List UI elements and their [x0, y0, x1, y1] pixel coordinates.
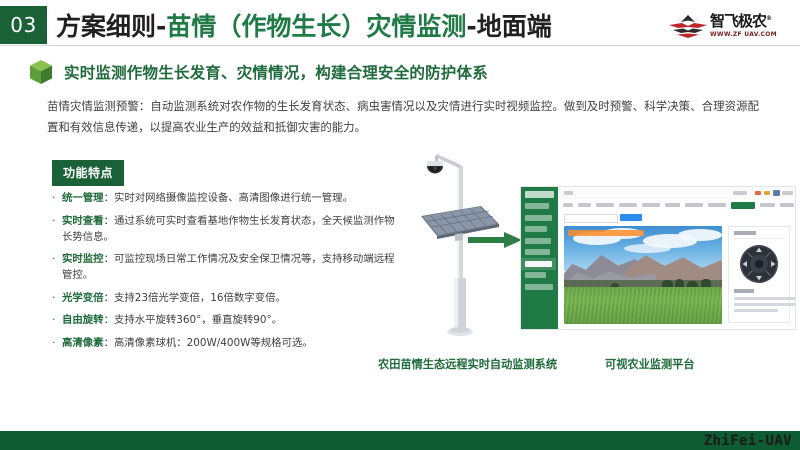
flow-arrow-icon [468, 232, 522, 248]
platform-sidebar-item[interactable] [525, 226, 547, 232]
platform-tab[interactable] [665, 203, 680, 207]
platform-breadcrumb [564, 191, 573, 195]
list-item: · 高清像素：高清像素球机：200W/400W等规格可选。 [52, 335, 402, 351]
video-timestamp-overlay [568, 230, 644, 236]
platform-sidebar-title [525, 191, 554, 198]
intro-paragraph: 苗情灾情监测预警：自动监测系统对农作物的生长发育状态、病虫害情况以及灾情进行实时… [47, 96, 759, 138]
page-title: 方案细则-苗情（作物生长）灾情监测-地面端 [56, 5, 552, 45]
list-item-body: 高清像素：高清像素球机：200W/400W等规格可选。 [62, 335, 402, 351]
list-item-sep: ： [104, 314, 114, 326]
platform-sidebar-item[interactable] [525, 272, 546, 278]
list-item-sep: ： [104, 192, 114, 204]
platform-tab[interactable] [685, 203, 703, 207]
platform-sidebar-item[interactable] [525, 203, 549, 209]
platform-sidebar[interactable] [521, 187, 558, 329]
platform-tab[interactable] [708, 203, 726, 207]
list-item: · 自由旋转：支持水平旋转360°，垂直旋转90°。 [52, 312, 402, 328]
list-item-label: 光学变倍 [62, 292, 104, 304]
page-header: 03 方案细则-苗情（作物生长）灾情监测-地面端 智飞极农® WWW.ZF UA… [0, 6, 800, 46]
ptz-control-dial-icon[interactable] [739, 244, 779, 284]
brand-name: 智飞极农® [710, 11, 794, 29]
list-item: · 统一管理：实时对网络摄像监控设备、高清图像进行统一管理。 [52, 190, 402, 206]
list-bullet: · [52, 190, 62, 206]
list-item-body: 实时查看：通过系统可实时查看基地作物生长发育状态，全天候监测作物长势信息。 [62, 213, 402, 245]
platform-filter-bar[interactable] [558, 211, 795, 224]
cube-icon [30, 60, 52, 84]
platform-topbar-user[interactable] [733, 191, 747, 195]
list-bullet: · [52, 312, 62, 328]
list-bullet: · [52, 213, 62, 245]
live-video-preview[interactable] [564, 226, 722, 324]
feature-list: · 统一管理：实时对网络摄像监控设备、高清图像进行统一管理。 · 实时查看：通过… [52, 190, 402, 357]
ptz-card-divider [734, 238, 784, 239]
search-button[interactable] [620, 214, 642, 221]
platform-tab-active[interactable] [731, 202, 755, 209]
platform-topbar-avatar[interactable] [773, 190, 780, 196]
platform-tab[interactable] [619, 203, 637, 207]
footer-brand-text: ZhiFei-UAV [704, 433, 792, 449]
platform-sidebar-item[interactable] [525, 215, 552, 221]
list-item-label: 实时监控 [62, 253, 104, 265]
platform-sidebar-item[interactable] [525, 284, 553, 290]
list-item: · 实时监控：可监控现场日常工作情况及安全保卫情况等，支持移动端远程管控。 [52, 251, 402, 283]
page-title-highlight: 苗情（作物生长）灾情监测 [166, 7, 466, 43]
eagle-mark-icon [668, 14, 708, 40]
page-title-suffix: -地面端 [466, 7, 551, 43]
list-item-text: 实时对网络摄像监控设备、高清图像进行统一管理。 [114, 192, 353, 204]
grass-field [564, 287, 722, 324]
page-title-prefix: 方案细则- [56, 7, 166, 43]
ptz-card-text-line [734, 303, 796, 306]
brand-logo: 智飞极农® WWW.ZF UAV.COM [668, 10, 794, 44]
list-item-text: 支持23倍光学变倍，16倍数字变倍。 [114, 292, 286, 304]
list-item-sep: ： [104, 215, 114, 227]
platform-topbar-action[interactable] [764, 191, 770, 195]
platform-sidebar-item-active[interactable] [525, 261, 552, 267]
platform-sidebar-item[interactable] [525, 249, 550, 255]
platform-main-area [558, 187, 795, 329]
platform-tab[interactable] [760, 203, 775, 207]
list-item-body: 自由旋转：支持水平旋转360°，垂直旋转90°。 [62, 312, 402, 328]
platform-tab[interactable] [596, 203, 614, 207]
ptz-card-title [734, 231, 756, 235]
list-item-sep: ： [104, 292, 114, 304]
section-headline: 实时监测作物生长发育、灾情情况，构建合理安全的防护体系 [30, 58, 488, 86]
list-item-label: 统一管理 [62, 192, 104, 204]
list-bullet: · [52, 290, 62, 306]
footer-bar [0, 431, 800, 450]
solar-camera-pole-photo [405, 148, 515, 353]
ptz-card-subtitle [734, 289, 754, 293]
platform-topbar-username [782, 191, 793, 195]
section-headline-text: 实时监测作物生长发育、灾情情况，构建合理安全的防护体系 [64, 61, 488, 83]
list-item-body: 光学变倍：支持23倍光学变倍，16倍数字变倍。 [62, 290, 402, 306]
list-item-label: 实时查看 [62, 215, 104, 227]
platform-tab[interactable] [780, 203, 794, 207]
brand-url: WWW.ZF UAV.COM [710, 30, 794, 39]
list-item-sep: ： [104, 337, 114, 349]
list-item-label: 高清像素 [62, 337, 104, 349]
list-item: · 实时查看：通过系统可实时查看基地作物生长发育状态，全天候监测作物长势信息。 [52, 213, 402, 245]
visual-agriculture-platform-screenshot[interactable] [520, 186, 796, 330]
feature-section-title: 功能特点 [52, 160, 124, 186]
header-divider [0, 45, 800, 46]
section-number-badge: 03 [0, 6, 47, 44]
cloud-shape [678, 229, 722, 241]
list-bullet: · [52, 335, 62, 351]
platform-tab[interactable] [642, 203, 660, 207]
ptz-control-card[interactable] [728, 226, 790, 323]
caption-platform: 可视农业监测平台 [605, 356, 695, 372]
platform-sidebar-item[interactable] [525, 238, 551, 244]
ptz-card-text-line [734, 297, 796, 300]
list-bullet: · [52, 251, 62, 283]
list-item-label: 自由旋转 [62, 314, 104, 326]
caption-monitoring-system: 农田苗情生态远程实时自动监测系统 [378, 356, 557, 372]
list-item-text: 支持水平旋转360°，垂直旋转90°。 [114, 314, 282, 326]
platform-topbar-action[interactable] [755, 191, 761, 195]
list-item: · 光学变倍：支持23倍光学变倍，16倍数字变倍。 [52, 290, 402, 306]
ptz-card-text-line [734, 309, 778, 312]
list-item-body: 统一管理：实时对网络摄像监控设备、高清图像进行统一管理。 [62, 190, 402, 206]
list-item-body: 实时监控：可监控现场日常工作情况及安全保卫情况等，支持移动端远程管控。 [62, 251, 402, 283]
list-item-text: 高清像素球机：200W/400W等规格可选。 [114, 337, 313, 349]
list-item-sep: ： [104, 253, 114, 265]
platform-tab[interactable] [563, 203, 573, 207]
search-input[interactable] [564, 214, 618, 223]
platform-tab[interactable] [578, 203, 591, 207]
brand-text: 智飞极农® WWW.ZF UAV.COM [710, 11, 794, 39]
